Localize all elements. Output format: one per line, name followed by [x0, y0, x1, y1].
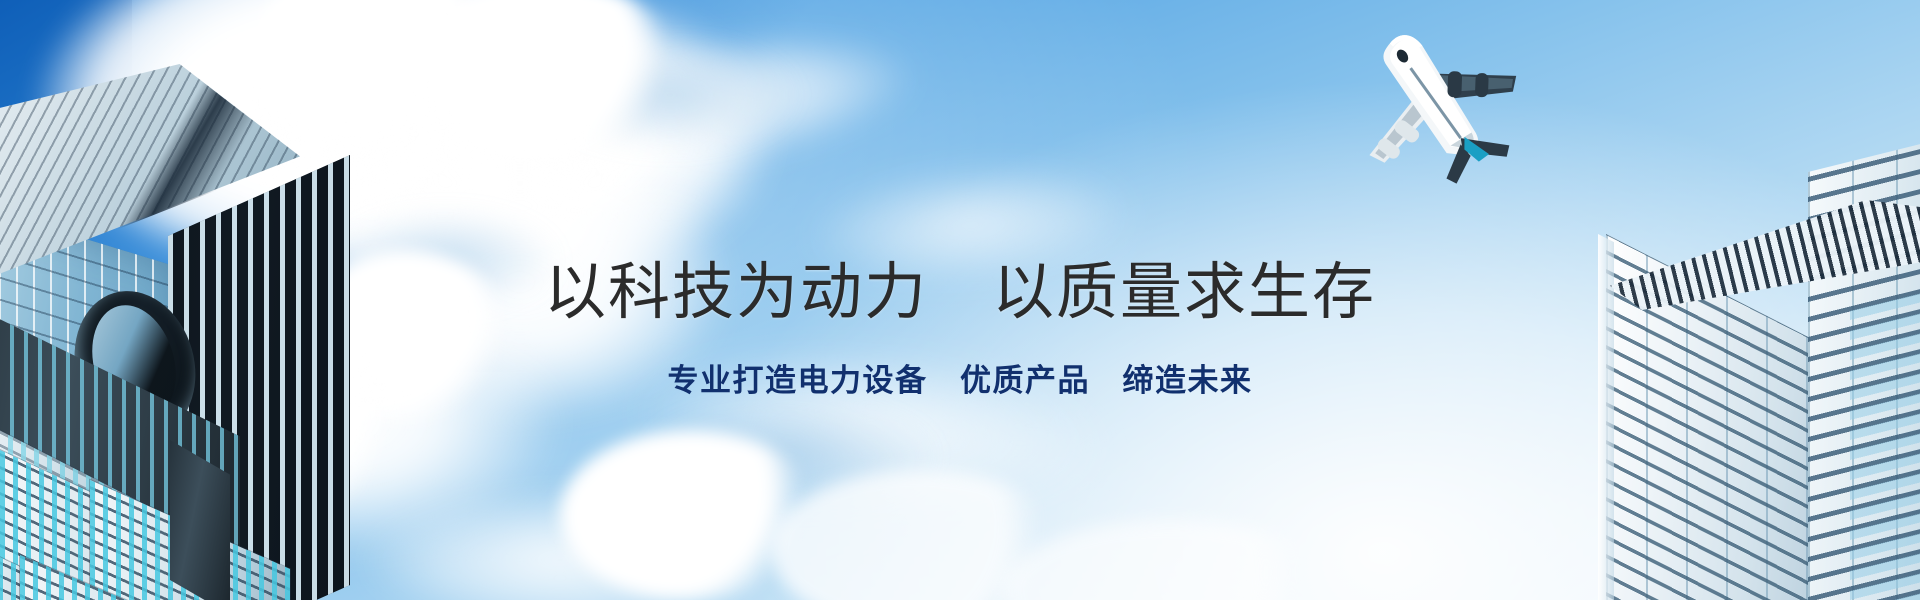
airplane — [1352, 14, 1532, 186]
hero-banner: 以科技为动力 以质量求生存 专业打造电力设备 优质产品 缔造未来 — [0, 0, 1920, 600]
bottom-left-stepped-complex — [0, 300, 380, 600]
right-tower-corner-edge — [1598, 234, 1614, 600]
airplane-icon — [1352, 14, 1532, 186]
banner-subline: 专业打造电力设备 优质产品 缔造未来 — [668, 362, 1253, 399]
right-tower — [1420, 190, 1920, 600]
banner-headline: 以科技为动力 以质量求生存 — [544, 259, 1376, 327]
